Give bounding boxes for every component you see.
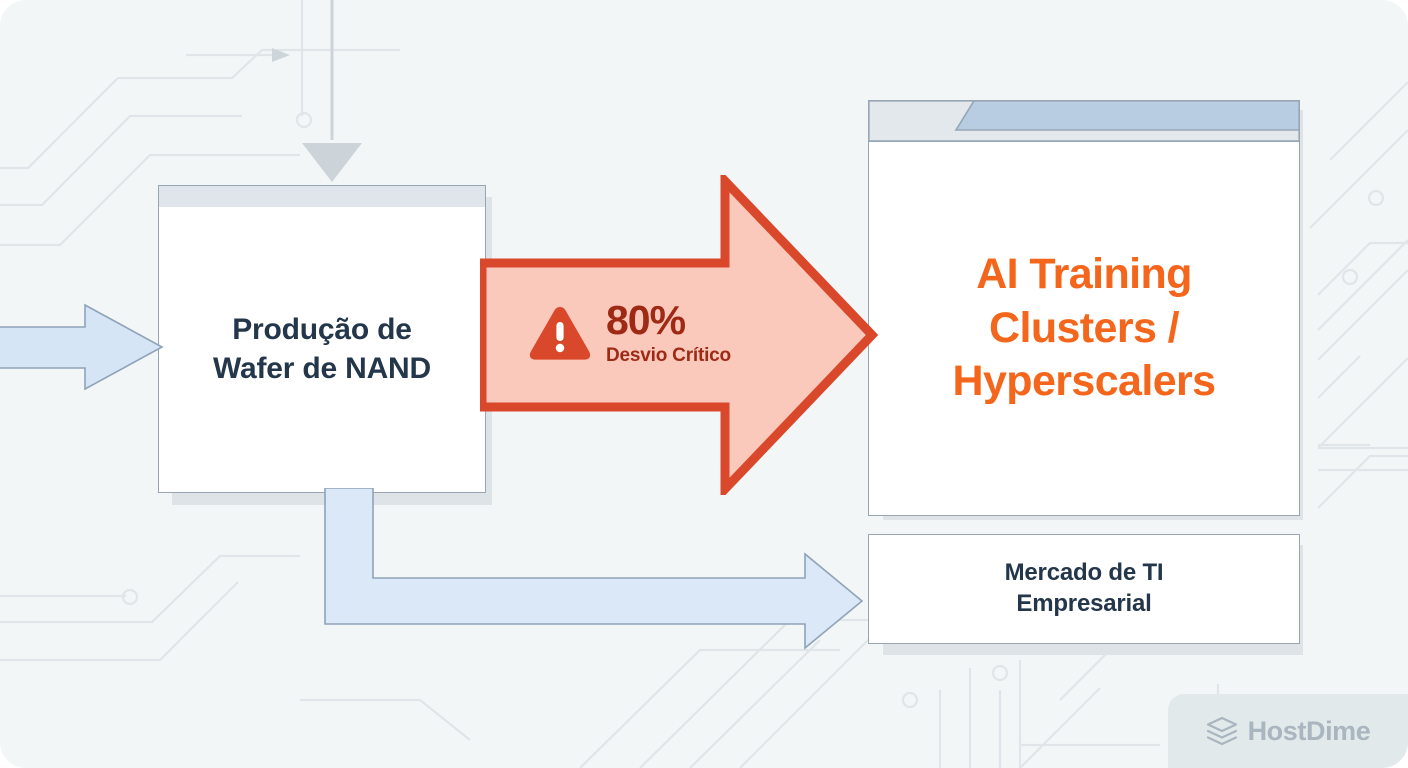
ai-clusters-label-line1: AI Training: [976, 250, 1192, 298]
top-inflow-arrow-head: [302, 0, 362, 182]
diagram-canvas: Produção de Wafer de NAND 80% Desvio Crí…: [0, 0, 1408, 768]
hostdime-branding: HostDime: [1168, 694, 1408, 768]
enterprise-market-body: Mercado de TI Empresarial: [868, 534, 1300, 644]
inbound-supply-arrow: [0, 300, 170, 395]
nand-production-label-line1: Produção de: [232, 313, 412, 346]
ai-clusters-label-line3: Hyperscalers: [953, 357, 1216, 405]
deviation-caption: Desvio Crítico: [606, 346, 731, 365]
nand-production-titlebar: [158, 185, 486, 207]
hostdime-wordmark: HostDime: [1248, 716, 1371, 747]
ai-clusters-body: AI Training Clusters / Hyperscalers: [868, 141, 1300, 516]
enterprise-allocation-arrow: [300, 488, 880, 658]
ai-clusters-titlebar: [868, 100, 1300, 142]
ai-clusters-label-line2: Clusters /: [989, 304, 1179, 352]
stacked-layers-icon: [1206, 716, 1238, 746]
deviation-percent: 80%: [606, 300, 685, 341]
nand-production-body: Produção de Wafer de NAND: [158, 206, 486, 493]
enterprise-market-label-line2: Empresarial: [1016, 590, 1151, 617]
warning-triangle-icon: [528, 304, 592, 362]
critical-deviation-badge: 80% Desvio Crítico: [528, 300, 731, 365]
nand-production-label-line2: Wafer de NAND: [213, 352, 431, 385]
enterprise-market-label-line1: Mercado de TI: [1005, 559, 1164, 586]
